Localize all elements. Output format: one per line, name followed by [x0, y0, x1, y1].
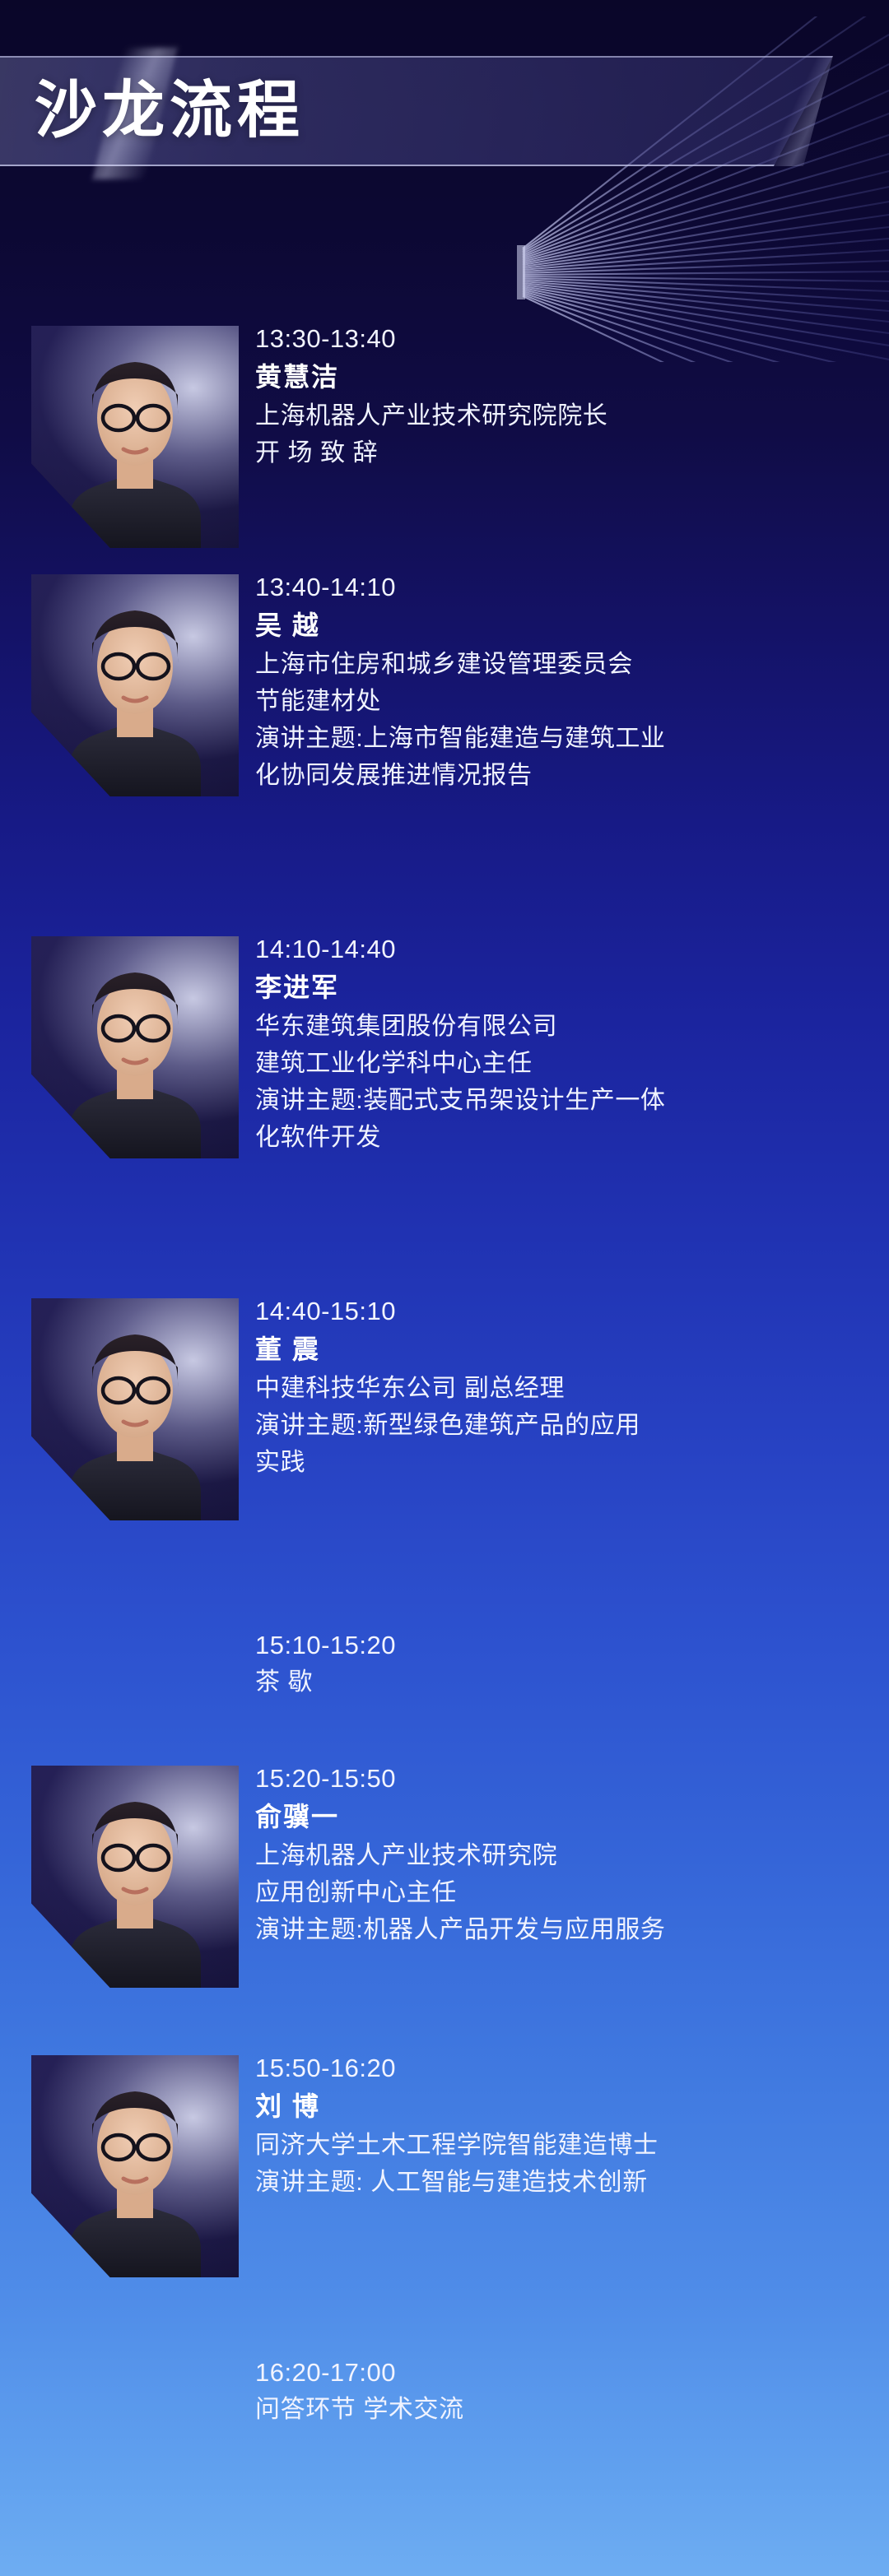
speaker-name: 董 震 — [255, 1330, 866, 1370]
agenda-time: 16:20-17:00 — [255, 2355, 866, 2391]
agenda-detail-line: 演讲主题:新型绿色建筑产品的应用 — [255, 1407, 866, 1444]
portrait-silhouette — [31, 936, 239, 1158]
avatar-column — [0, 2355, 255, 2356]
agenda-time: 15:20-15:50 — [255, 1761, 866, 1797]
agenda-detail-line: 开 场 致 辞 — [255, 434, 866, 471]
portrait-silhouette — [31, 1766, 239, 1988]
agenda-text-column: 15:20-15:50俞骥一上海机器人产业技术研究院应用创新中心主任演讲主题:机… — [255, 1761, 889, 1948]
agenda-text-column: 15:10-15:20茶 歇 — [255, 1627, 889, 1701]
agenda-detail-line: 节能建材处 — [255, 683, 866, 720]
salon-agenda-poster: 沙龙流程 13:30-13:40黄慧洁上海机器人产业技术研究院院长开 场 致 辞… — [0, 0, 889, 2576]
speaker-avatar — [31, 326, 239, 548]
portrait-silhouette — [31, 1298, 239, 1520]
speaker-avatar — [31, 936, 239, 1158]
agenda-time: 13:40-14:10 — [255, 569, 866, 606]
speaker-name: 吴 越 — [255, 606, 866, 646]
speaker-avatar — [31, 1298, 239, 1520]
header-banner: 沙龙流程 — [0, 56, 833, 166]
speaker-avatar — [31, 2055, 239, 2277]
avatar-column — [0, 2050, 255, 2051]
agenda-time: 15:10-15:20 — [255, 1627, 866, 1664]
agenda-time: 14:10-14:40 — [255, 931, 866, 968]
speaker-avatar — [31, 1766, 239, 1988]
agenda-row[interactable]: 13:30-13:40黄慧洁上海机器人产业技术研究院院长开 场 致 辞 — [0, 321, 889, 471]
agenda-time: 13:30-13:40 — [255, 321, 866, 357]
agenda-row[interactable]: 15:10-15:20茶 歇 — [0, 1627, 889, 1701]
agenda-detail-line: 化协同发展推进情况报告 — [255, 757, 866, 794]
avatar-column — [0, 1627, 255, 1628]
agenda-detail-line: 演讲主题:机器人产品开发与应用服务 — [255, 1911, 866, 1948]
agenda-detail-line: 上海机器人产业技术研究院 — [255, 1837, 866, 1874]
portrait-silhouette — [31, 326, 239, 548]
avatar-column — [0, 321, 255, 322]
portrait-silhouette — [31, 574, 239, 796]
agenda-detail-line: 演讲主题:上海市智能建造与建筑工业 — [255, 720, 866, 757]
agenda-text-column: 13:40-14:10吴 越上海市住房和城乡建设管理委员会节能建材处演讲主题:上… — [255, 569, 889, 794]
agenda-detail-line: 建筑工业化学科中心主任 — [255, 1045, 866, 1082]
agenda-time: 14:40-15:10 — [255, 1293, 866, 1330]
speaker-name: 李进军 — [255, 968, 866, 1008]
agenda-detail-line: 演讲主题: 人工智能与建造技术创新 — [255, 2164, 866, 2201]
agenda-text-column: 13:30-13:40黄慧洁上海机器人产业技术研究院院长开 场 致 辞 — [255, 321, 889, 471]
agenda-detail-line: 上海市住房和城乡建设管理委员会 — [255, 646, 866, 683]
page-title: 沙龙流程 — [35, 80, 305, 142]
agenda-detail-line: 应用创新中心主任 — [255, 1874, 866, 1911]
agenda-row[interactable]: 16:20-17:00问答环节 学术交流 — [0, 2355, 889, 2428]
agenda-detail-line: 演讲主题:装配式支吊架设计生产一体 — [255, 1082, 866, 1119]
avatar-column — [0, 1761, 255, 1761]
agenda-detail-line: 中建科技华东公司 副总经理 — [255, 1370, 866, 1407]
avatar-column — [0, 931, 255, 932]
agenda-detail-line: 茶 歇 — [255, 1664, 866, 1701]
agenda-detail-line: 华东建筑集团股份有限公司 — [255, 1008, 866, 1045]
avatar-column — [0, 569, 255, 570]
agenda-detail-line: 实践 — [255, 1444, 866, 1481]
agenda-text-column: 14:10-14:40李进军华东建筑集团股份有限公司建筑工业化学科中心主任演讲主… — [255, 931, 889, 1156]
speaker-name: 黄慧洁 — [255, 357, 866, 397]
agenda-text-column: 16:20-17:00问答环节 学术交流 — [255, 2355, 889, 2428]
agenda-detail-line: 同济大学土木工程学院智能建造博士 — [255, 2127, 866, 2164]
agenda-detail-line: 化软件开发 — [255, 1119, 866, 1156]
agenda-row[interactable]: 14:10-14:40李进军华东建筑集团股份有限公司建筑工业化学科中心主任演讲主… — [0, 931, 889, 1156]
agenda-row[interactable]: 14:40-15:10董 震中建科技华东公司 副总经理演讲主题:新型绿色建筑产品… — [0, 1293, 889, 1481]
agenda-row[interactable]: 13:40-14:10吴 越上海市住房和城乡建设管理委员会节能建材处演讲主题:上… — [0, 569, 889, 794]
speaker-avatar — [31, 574, 239, 796]
speaker-name: 俞骥一 — [255, 1797, 866, 1837]
agenda-text-column: 14:40-15:10董 震中建科技华东公司 副总经理演讲主题:新型绿色建筑产品… — [255, 1293, 889, 1481]
speaker-name: 刘 博 — [255, 2086, 866, 2127]
avatar-column — [0, 1293, 255, 1294]
agenda-text-column: 15:50-16:20刘 博同济大学土木工程学院智能建造博士演讲主题: 人工智能… — [255, 2050, 889, 2201]
agenda-time: 15:50-16:20 — [255, 2050, 866, 2086]
agenda-detail-line: 问答环节 学术交流 — [255, 2391, 866, 2428]
portrait-silhouette — [31, 2055, 239, 2277]
agenda-detail-line: 上海机器人产业技术研究院院长 — [255, 397, 866, 434]
agenda-row[interactable]: 15:50-16:20刘 博同济大学土木工程学院智能建造博士演讲主题: 人工智能… — [0, 2050, 889, 2201]
agenda-row[interactable]: 15:20-15:50俞骥一上海机器人产业技术研究院应用创新中心主任演讲主题:机… — [0, 1761, 889, 1948]
